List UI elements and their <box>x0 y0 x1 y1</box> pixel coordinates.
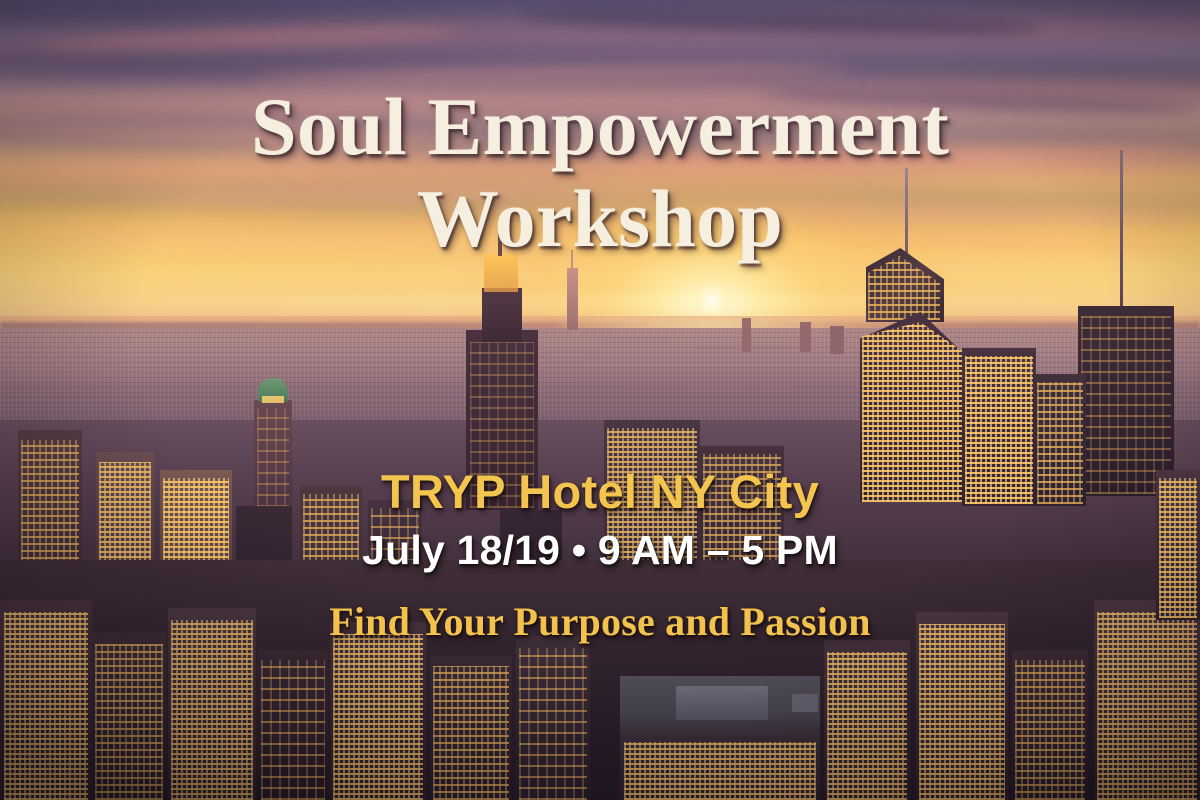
event-datetime: July 18/19 • 9 AM – 5 PM <box>0 527 1200 573</box>
event-flyer: Soul Empowerment Workshop TRYP Hotel NY … <box>0 0 1200 800</box>
event-tagline: Find Your Purpose and Passion <box>0 599 1200 645</box>
event-venue: TRYP Hotel NY City <box>0 466 1200 518</box>
flyer-text-overlay: Soul Empowerment Workshop TRYP Hotel NY … <box>0 0 1200 800</box>
event-title-line-2: Workshop <box>0 176 1200 262</box>
event-title-line-1: Soul Empowerment <box>0 84 1200 170</box>
